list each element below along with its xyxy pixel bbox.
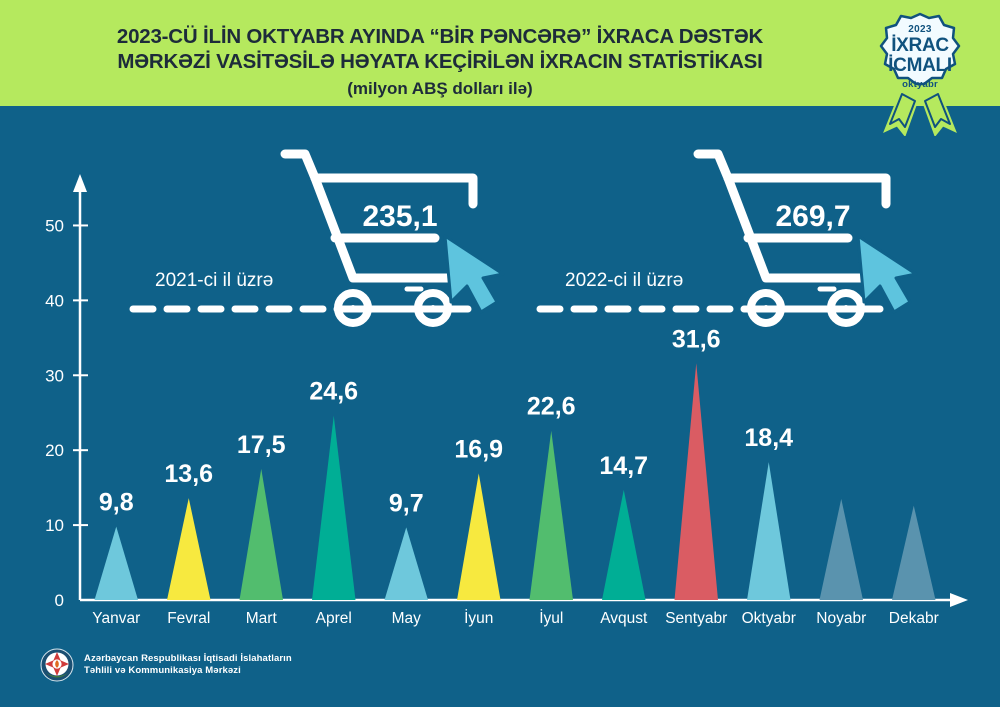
header-banner: 2023-CÜ İLİN OKTYABR AYINDA “BİR PƏNCƏRƏ… [0,0,1000,106]
shopping-cart-2021-group: 235,1 [285,154,503,323]
bar-value-label-i̇yun: 16,9 [454,435,503,463]
x-axis-month-labels: YanvarFevralMartAprelMayİyunİyulAvqustSe… [92,609,938,627]
bar-value-label-i̇yul: 22,6 [527,393,576,421]
month-label-sentyabr: Sentyabr [665,610,727,627]
infographic-root: 2023-CÜ İLİN OKTYABR AYINDA “BİR PƏNCƏRƏ… [0,0,1000,707]
footer-line1: Azərbaycan Respublikası İqtisadi İslahat… [84,653,292,666]
badge-year: 2023 [870,24,970,35]
bar-value-label-mart: 17,5 [237,431,286,459]
bar-sentyabr[interactable] [675,363,719,600]
bar-value-label-sentyabr: 31,6 [672,325,721,353]
y-tick-label: 30 [45,366,64,385]
y-tick-label: 10 [45,516,64,535]
cart-2022-value: 269,7 [775,200,850,233]
trend-label-2022: 2022-ci il üzrə [565,270,683,291]
bar-noyabr[interactable] [820,499,864,600]
y-tick-label: 40 [45,291,64,310]
month-label-aprel: Aprel [316,610,352,627]
month-label-mart: Mart [246,610,278,627]
bar-yanvar[interactable] [95,527,139,600]
footer-line2: Təhlili və Kommunikasiya Mərkəzi [84,665,292,678]
page-title-line2: MƏRKƏZİ VASİTƏSİLƏ HƏYATA KEÇİRİLƏN İXRA… [0,49,880,74]
month-label-dekabr: Dekabr [889,610,939,627]
header-text-block: 2023-CÜ İLİN OKTYABR AYINDA “BİR PƏNCƏRƏ… [0,24,880,100]
bar-value-label-yanvar: 9,8 [99,489,134,517]
badge-line2: İCMALI [870,56,970,76]
bar-value-label-avqust: 14,7 [599,452,648,480]
month-label-fevral: Fevral [167,610,210,627]
bars-group [95,363,936,600]
bar-i̇yun[interactable] [457,473,501,600]
cart-2021-value: 235,1 [362,200,437,233]
bar-dekabr[interactable] [892,506,936,600]
month-label-oktyabr: Oktyabr [742,610,796,627]
badge-text-block: 2023 İXRAC İCMALI oktyabr [870,24,970,90]
footer-credit: Azərbaycan Respublikası İqtisadi İslahat… [40,645,292,685]
bar-aprel[interactable] [312,416,356,600]
azerbaijan-state-emblem-icon [40,648,74,682]
cart-wheel-left-hub [350,305,356,311]
bar-avqust[interactable] [602,490,646,600]
cursor-pointer-icon [858,236,916,312]
y-tick-label: 0 [55,591,64,610]
bar-value-label-may: 9,7 [389,489,424,517]
bar-mart[interactable] [240,469,284,600]
bar-fevral[interactable] [167,498,211,600]
month-label-may: May [392,610,422,627]
bar-i̇yul[interactable] [530,431,574,600]
month-label-noyabr: Noyabr [816,610,866,627]
month-label-i̇yul: İyul [539,609,563,627]
badge-line1: İXRAC [870,36,970,56]
page-subtitle: (milyon ABŞ dolları ilə) [0,77,880,100]
shopping-cart-2022-group: 269,7 [698,154,916,323]
cart-wheel-left-hub [763,305,769,311]
cursor-pointer-icon [445,236,503,312]
trend-label-2021: 2021-ci il üzrə [155,270,273,291]
page-title-line1: 2023-CÜ İLİN OKTYABR AYINDA “BİR PƏNCƏRƏ… [0,24,880,49]
bar-may[interactable] [385,527,429,600]
y-axis-ticks: 01020304050 [45,216,88,610]
y-tick-label: 20 [45,441,64,460]
footer-text-block: Azərbaycan Respublikası İqtisadi İslahat… [84,653,292,678]
month-label-avqust: Avqust [600,610,648,627]
bar-value-label-aprel: 24,6 [309,378,358,406]
bar-oktyabr[interactable] [747,462,791,600]
badge-month: oktyabr [870,79,970,90]
month-label-yanvar: Yanvar [92,610,140,627]
bar-value-label-oktyabr: 18,4 [744,424,793,452]
month-label-i̇yun: İyun [464,609,493,627]
y-tick-label: 50 [45,216,64,235]
cart-wheel-right-hub [430,305,436,311]
cart-wheel-right-hub [843,305,849,311]
bar-value-label-fevral: 13,6 [164,460,213,488]
chart-canvas: 01020304050 [0,106,1000,707]
export-statistics-chart: 01020304050 [0,106,1000,707]
